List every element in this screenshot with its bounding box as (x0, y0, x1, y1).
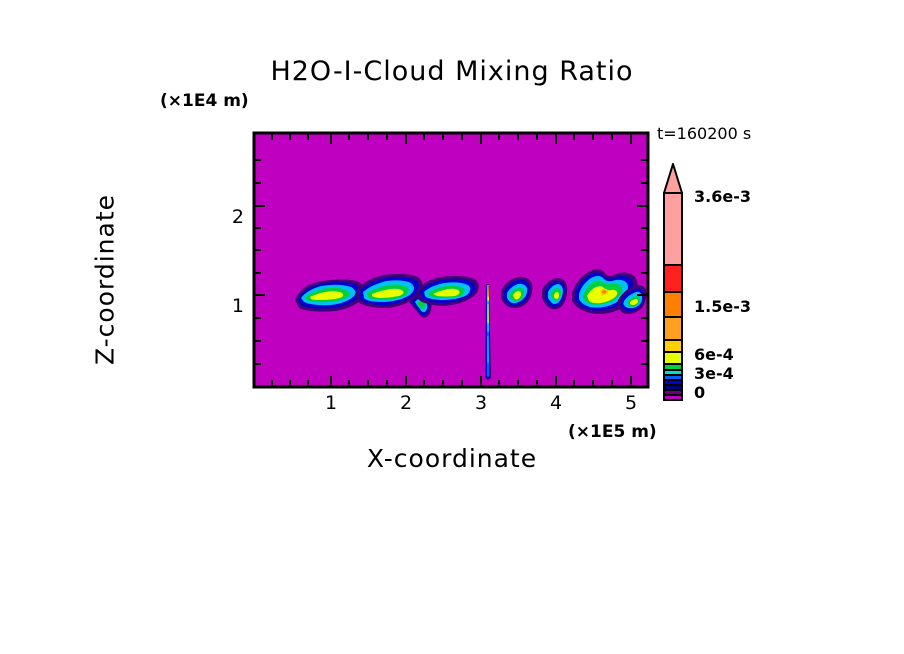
plot-area (254, 133, 648, 387)
plot-background (254, 133, 648, 387)
colorbar-band (664, 292, 682, 317)
colorbar-band (664, 265, 682, 292)
colorbar-band (664, 352, 682, 364)
colorbar-band (664, 340, 682, 352)
figure-canvas: H2O-I-Cloud Mixing Ratio (×1E4 m) t=1602… (0, 0, 904, 654)
plot-svg-root (0, 0, 904, 654)
colorbar-overflow-arrow (664, 164, 682, 193)
colorbar (664, 164, 682, 400)
colorbar-band (664, 193, 682, 265)
colorbar-band (664, 317, 682, 340)
